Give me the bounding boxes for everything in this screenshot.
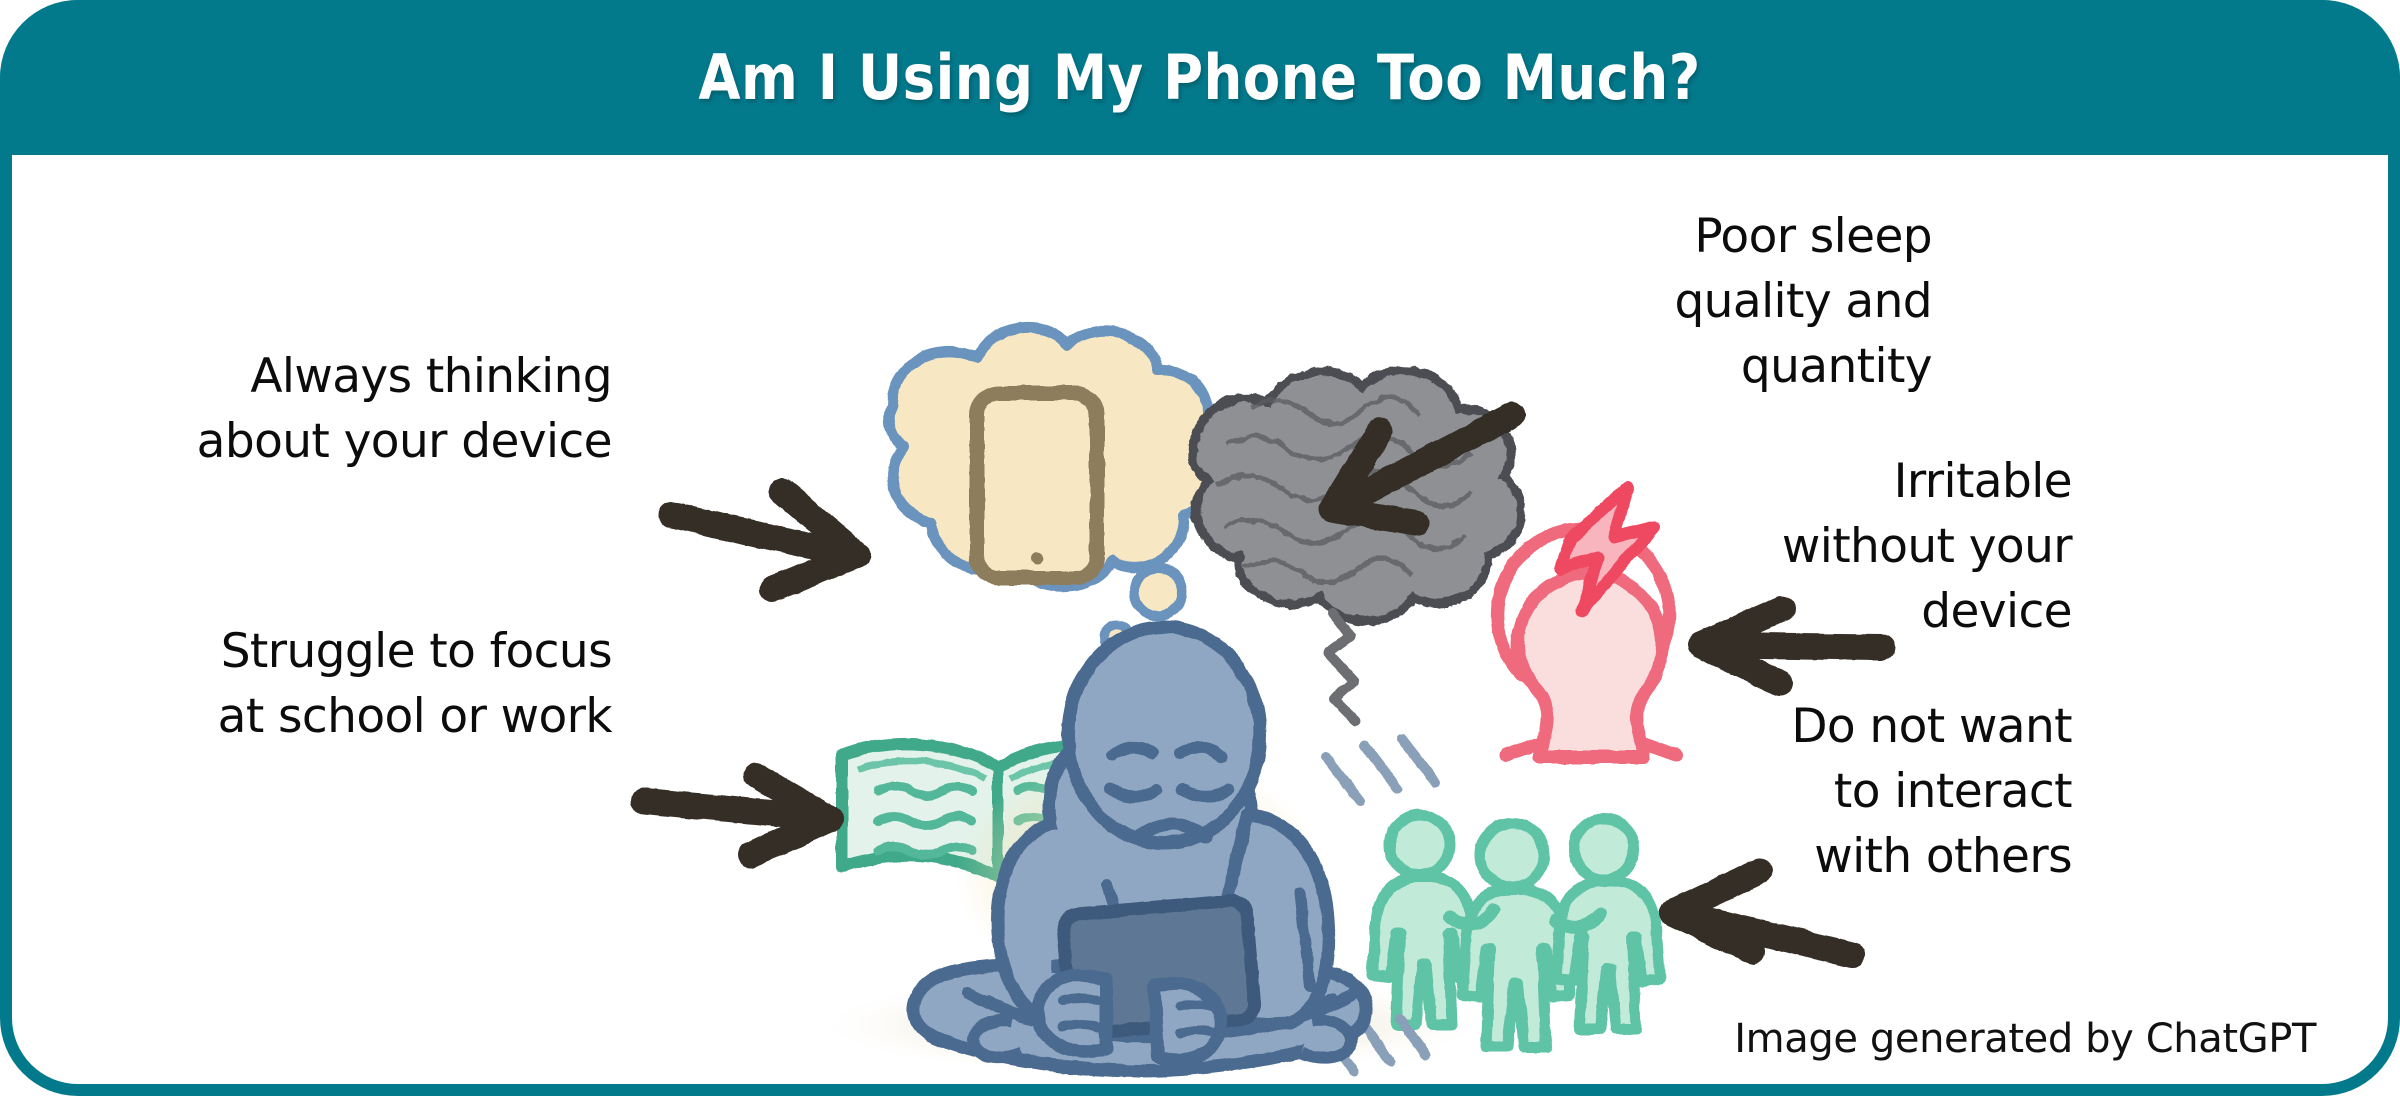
arrow-to-thought-bubble [672, 491, 858, 589]
label-irritable: Irritable without your device [1672, 450, 2072, 645]
ground-shadow [812, 973, 1492, 1077]
page-title: Am I Using My Phone Too Much? [699, 41, 1701, 114]
illustration-canvas: Always thinking about your device Strugg… [12, 155, 2388, 1084]
arrow-to-storm-cloud [1332, 415, 1512, 523]
label-always-thinking: Always thinking about your device [192, 345, 612, 475]
header-bar: Am I Using My Phone Too Much? [0, 0, 2400, 155]
label-poor-sleep: Poor sleep quality and quantity [1532, 205, 1932, 400]
infographic-card: Am I Using My Phone Too Much? [0, 0, 2400, 1096]
image-credit: Image generated by ChatGPT [1734, 1016, 2316, 1062]
label-struggle-focus: Struggle to focus at school or work [172, 620, 612, 750]
storm-cloud-icon [1194, 371, 1521, 721]
label-no-interact: Do not want to interact with others [1612, 695, 2072, 890]
thought-bubble-phone-icon [889, 327, 1215, 651]
open-book-icon [842, 744, 1154, 877]
person-on-phone [913, 627, 1366, 1071]
arrow-to-book [644, 775, 830, 855]
motion-lines [1326, 739, 1436, 1071]
